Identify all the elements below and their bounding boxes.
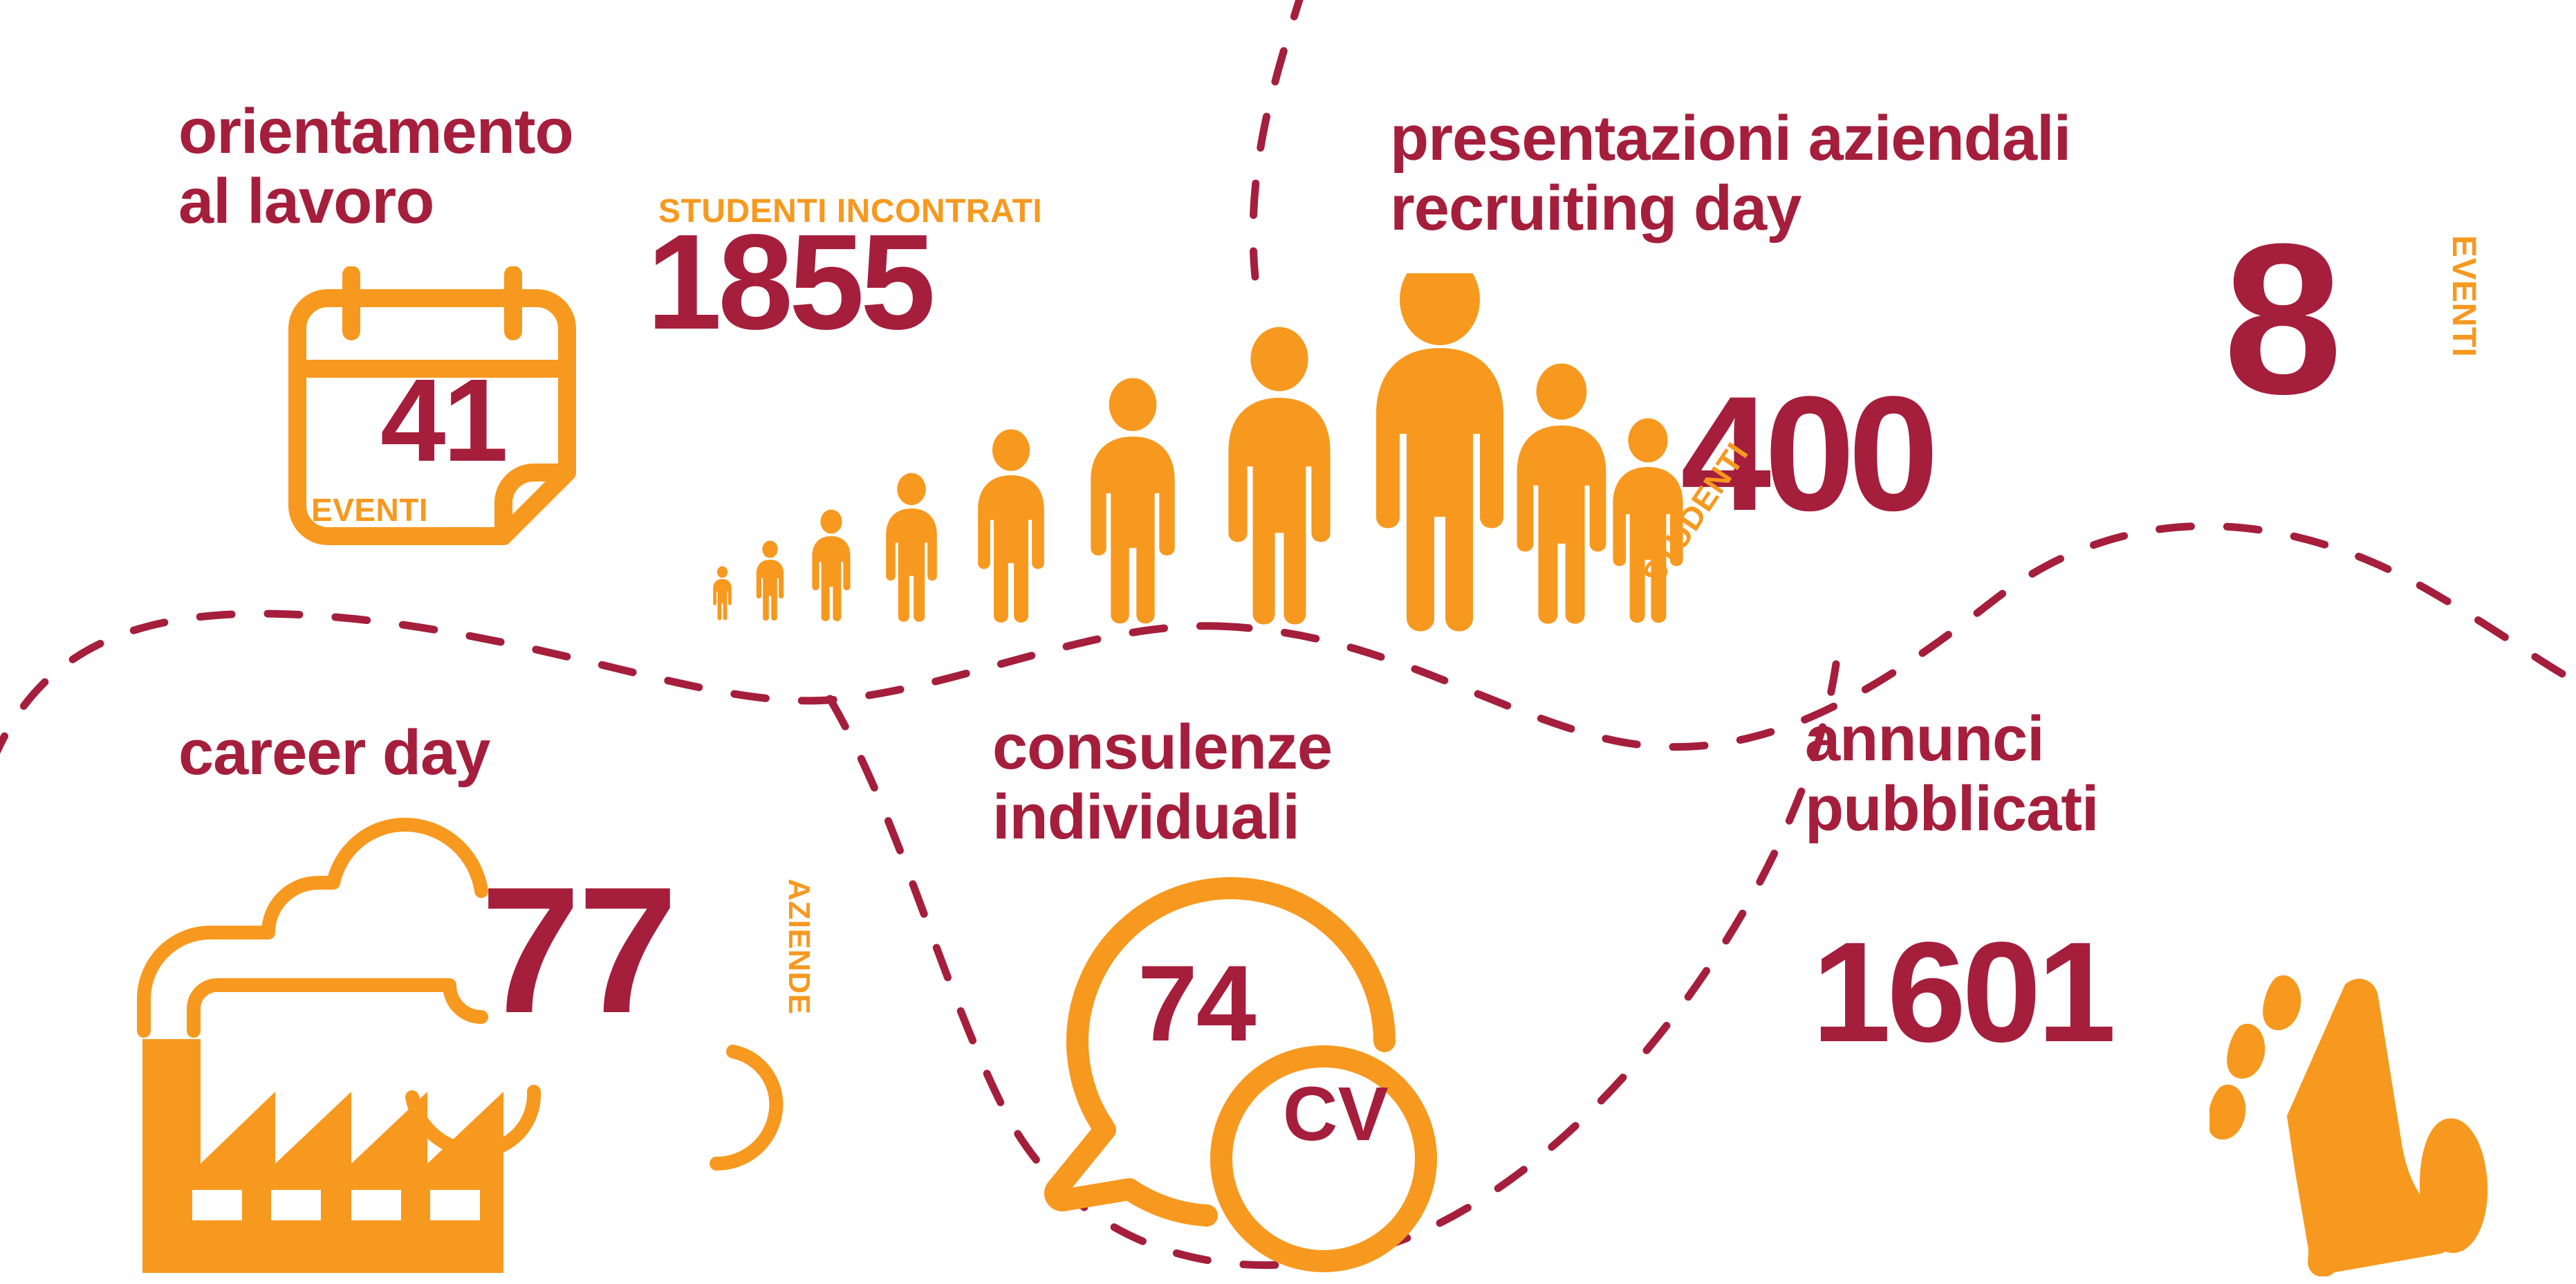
value-consulenze-individuali: 74 [1138,955,1255,1054]
value-presentazioni-eventi: 8 [2223,220,2337,417]
unit-orientamento-eventi: EVENTI [311,491,428,529]
heading-consulenze-individuali: consulenze individuali [992,713,1332,852]
heading-career-day: career day [178,718,490,788]
badge-cv-label: CV [1283,1079,1389,1149]
heading-presentazioni-aziendali: presentazioni aziendali recruiting day [1390,104,2070,244]
unit-career-day-aziende: AZIENDE [781,879,816,1015]
heading-annunci-pubblicati: annunci pubblicati [1805,704,2098,844]
value-orientamento-eventi: 41 [380,367,506,475]
unit-presentazioni-eventi: EVENTI [2445,235,2483,357]
value-studenti-incontrati: 1855 [647,220,932,345]
infographic-canvas: orientamento al lavoro 41 EVENTI STUDENT… [0,0,2576,1284]
value-career-day-aziende: 77 [481,868,675,1034]
heading-orientamento-al-lavoro: orientamento al lavoro [178,97,573,237]
value-annunci-pubblicati: 1601 [1812,927,2112,1058]
